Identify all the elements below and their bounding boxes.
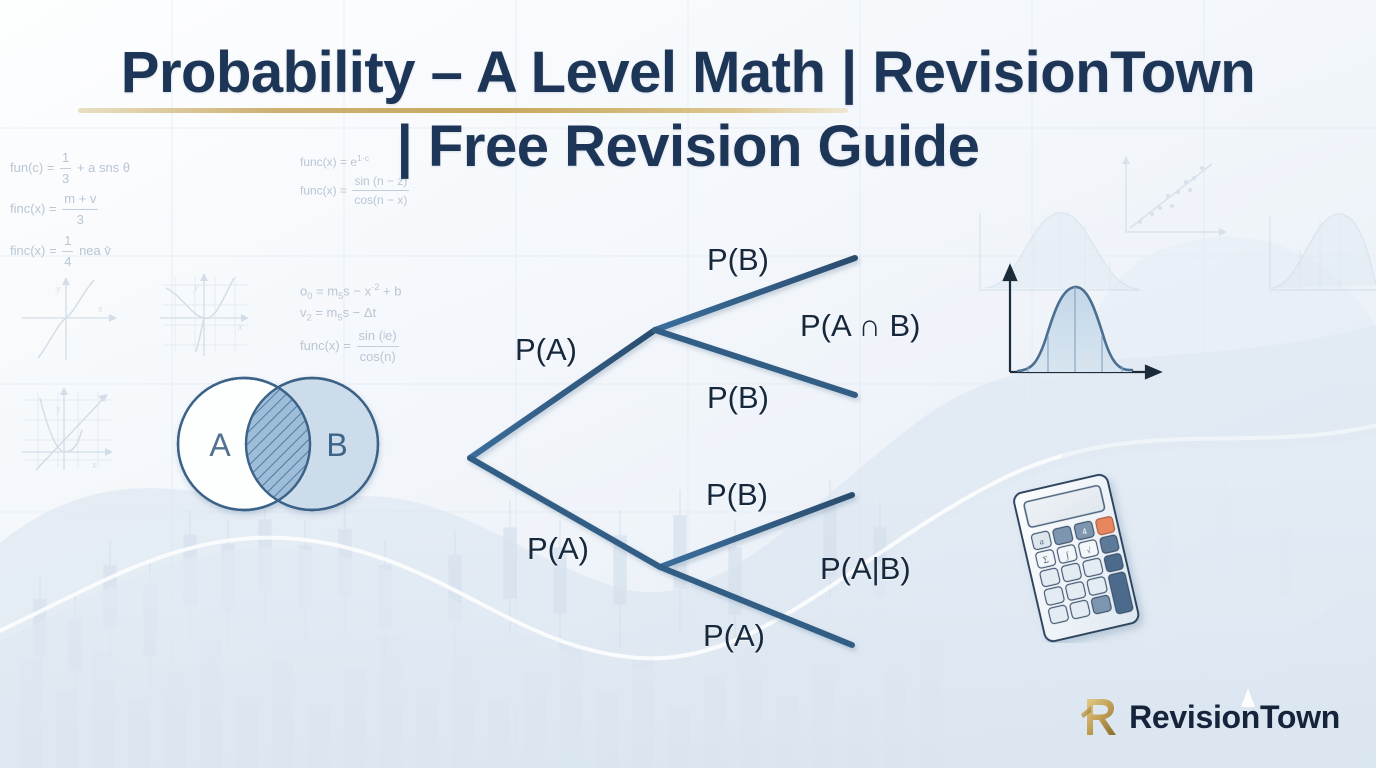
mini-graph-cubic-grid: y x xyxy=(160,273,249,356)
svg-text:x: x xyxy=(91,460,97,471)
page-title-line-1: Probability – A Level Math | RevisionTow… xyxy=(0,36,1376,110)
mini-graph-parabola-line: y x xyxy=(22,387,113,471)
logo-mark-r-icon xyxy=(1078,694,1120,740)
calculator-key[interactable] xyxy=(1039,568,1060,588)
svg-text:y: y xyxy=(193,282,199,293)
calculator-illustration: a 4 Σ ∫ √ xyxy=(1000,468,1170,648)
tree-label-upper-top: P(B) xyxy=(707,242,769,278)
calculator-key[interactable] xyxy=(1091,595,1112,615)
tree-label-lower-bottom: P(A) xyxy=(703,618,765,654)
calculator-key[interactable] xyxy=(1061,563,1082,583)
venn-label-a: A xyxy=(209,427,231,463)
calculator-key[interactable] xyxy=(1044,586,1065,606)
tree-label-upper-bottom: P(B) xyxy=(707,380,769,416)
calculator-key[interactable] xyxy=(1069,600,1090,620)
tree-label-upper-outcome: P(A ∩ B) xyxy=(800,308,920,344)
svg-text:x: x xyxy=(237,322,243,333)
venn-diagram: A B xyxy=(172,372,402,527)
svg-text:y: y xyxy=(55,284,61,295)
poster-canvas: y x xyxy=(0,0,1376,768)
formula-row: v2 = m5s − Δt xyxy=(300,303,401,325)
calculator-key[interactable] xyxy=(1087,576,1108,596)
logo-wordmark: RevisionTown xyxy=(1129,699,1340,736)
tree-label-lower-top: P(B) xyxy=(706,477,768,513)
calculator-key[interactable] xyxy=(1082,558,1103,578)
page-title-line-2: | Free Revision Guide xyxy=(0,110,1376,184)
formula-row: o0 = m5s − x·2 + b xyxy=(300,280,401,303)
tree-label-lower-root: P(A) xyxy=(527,531,589,567)
calculator-key-accent[interactable] xyxy=(1095,516,1115,535)
revisiontown-logo[interactable]: RevisionTown xyxy=(1078,694,1340,740)
mini-bell-curve-right xyxy=(1270,214,1376,290)
calculator-key[interactable] xyxy=(1048,605,1069,625)
calculator-key[interactable] xyxy=(1065,581,1086,601)
svg-text:x: x xyxy=(97,304,103,315)
probability-tree-diagram xyxy=(440,220,900,685)
calculator-key[interactable] xyxy=(1104,553,1124,572)
logo-tent-icon xyxy=(1241,688,1255,708)
venn-label-b: B xyxy=(326,427,347,463)
tree-label-upper-root: P(A) xyxy=(515,332,577,368)
logo-text-label: RevisionTown xyxy=(1129,699,1340,735)
normal-distribution-figure xyxy=(980,252,1170,407)
formula-row: finc(x) = 14 nea v̄ xyxy=(10,231,130,272)
formula-group-center-mid: o0 = m5s − x·2 + b v2 = m5s − Δt func(x)… xyxy=(300,280,401,367)
svg-text:y: y xyxy=(55,404,61,415)
tree-label-lower-outcome: P(A|B) xyxy=(820,551,911,587)
mini-graph-cubic: y x xyxy=(22,277,117,360)
formula-row: func(x) = sin (ʲe)cos(n) xyxy=(300,326,401,367)
formula-row: finc(x) = m + v3 xyxy=(10,189,130,230)
title-underline-accent xyxy=(78,108,848,113)
calculator-key[interactable] xyxy=(1052,526,1073,546)
calculator-key[interactable] xyxy=(1099,534,1119,553)
